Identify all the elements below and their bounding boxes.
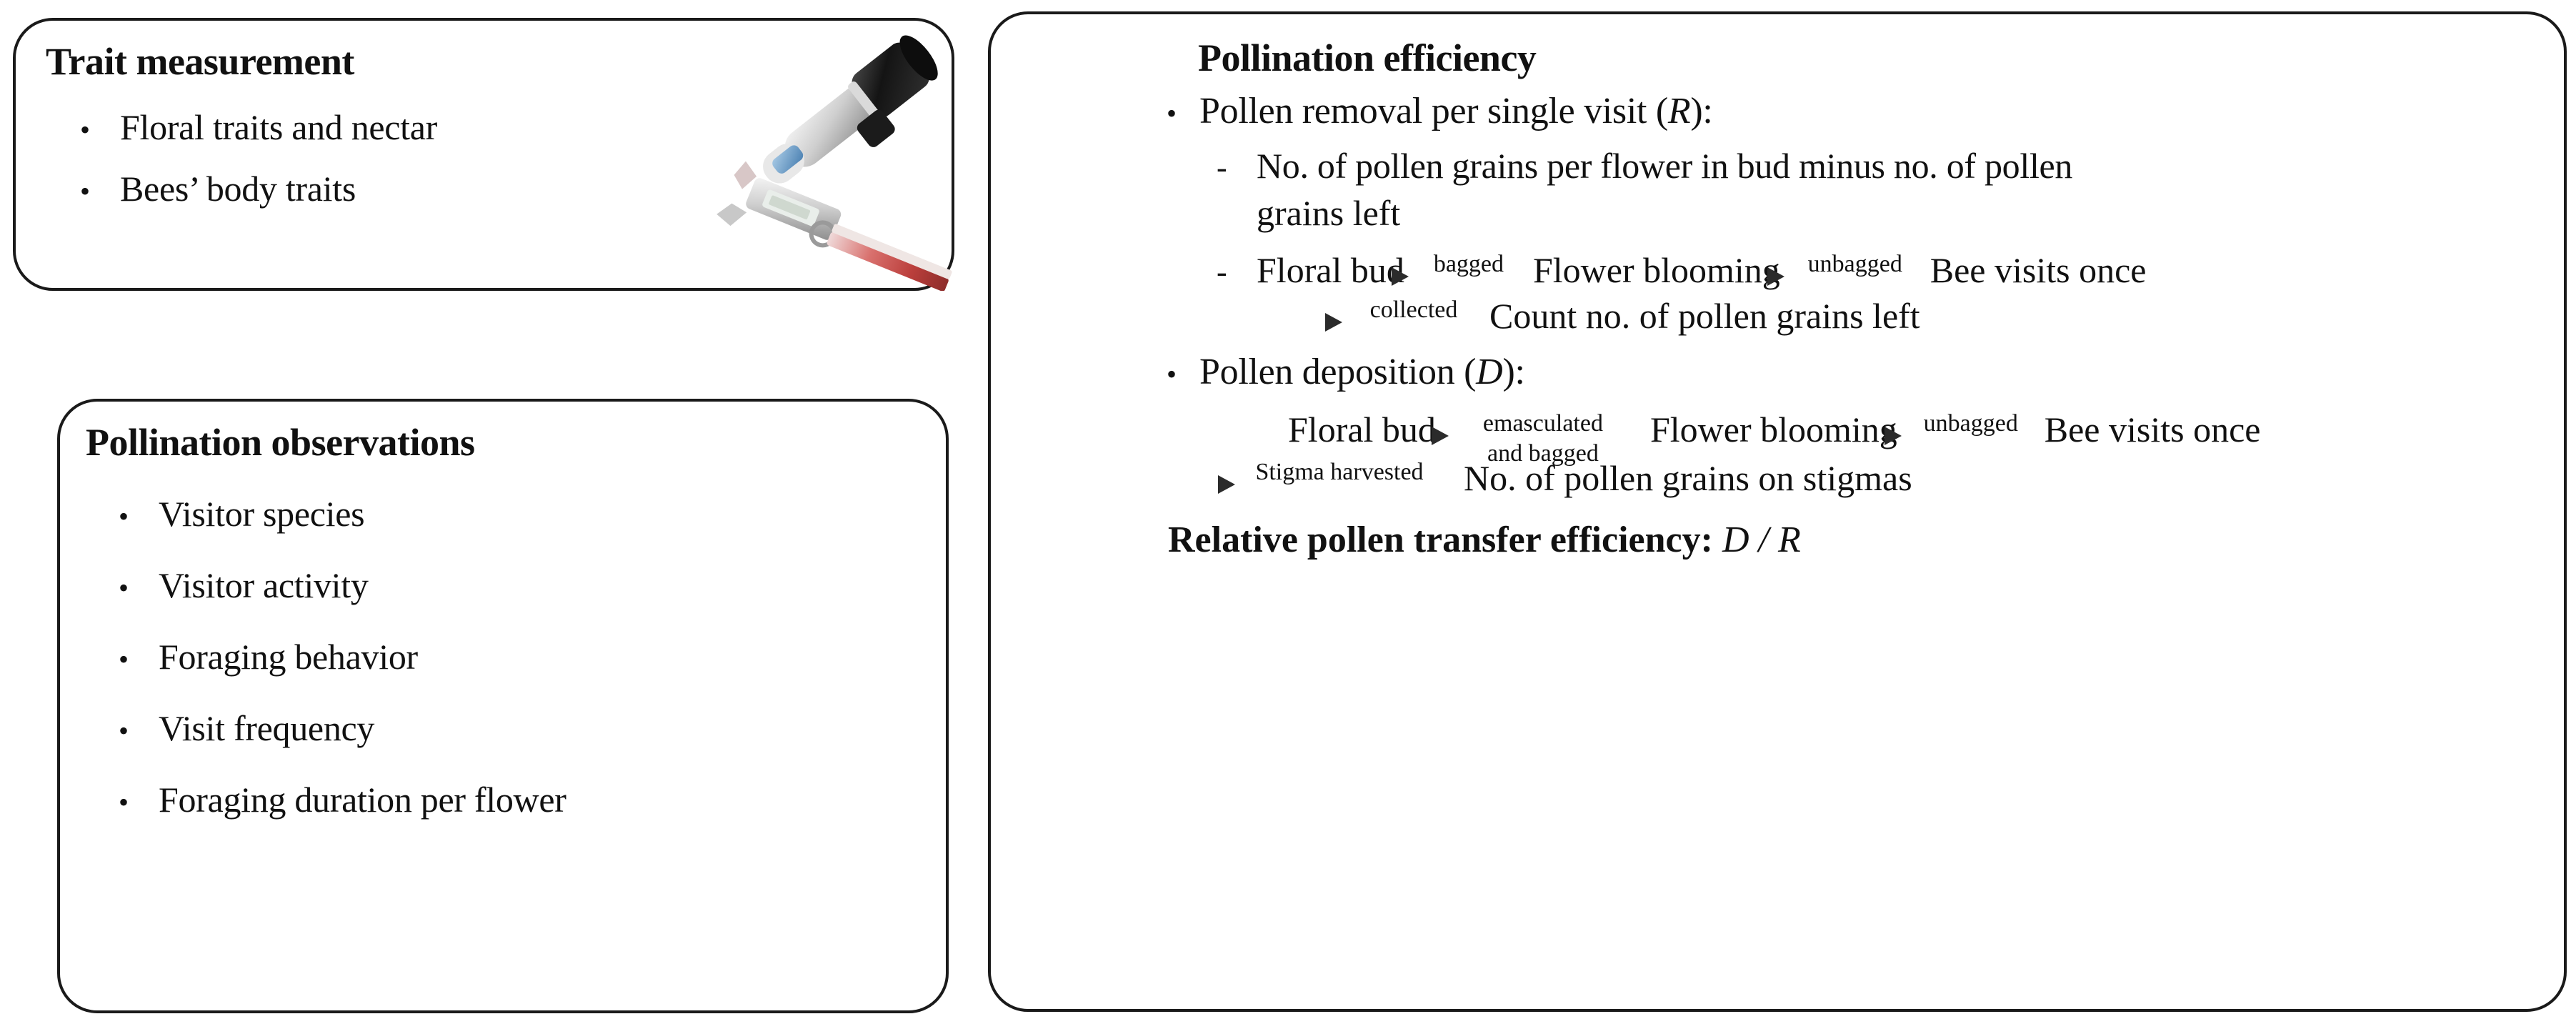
pollen-removal-flow-row-2-inner: collected Count no. of pollen grains lef… (1338, 295, 1920, 337)
flow-node-bee-visits-once: Bee visits once (2045, 409, 2261, 450)
list-item: • Visit frequency (119, 707, 566, 749)
arrow-label-unbagged: unbagged (1924, 410, 2018, 437)
arrow-label-unbagged: unbagged (1808, 251, 1902, 278)
pollen-deposition-label: Pollen deposition (D): (1199, 351, 1525, 393)
bullet-icon: • (119, 645, 159, 674)
pollen-deposition-label-start: Pollen deposition ( (1199, 352, 1476, 392)
pollen-removal-label-end: ): (1690, 91, 1712, 131)
bullet-icon: • (119, 574, 159, 602)
pollen-removal-sub-item-2: - Floral bud bagged Flower blooming unba… (1217, 249, 2564, 291)
list-item: • Foraging behavior (119, 636, 566, 677)
pollen-deposition-symbol: D (1476, 352, 1502, 392)
list-item-label: Foraging duration per flower (159, 779, 566, 820)
pollen-deposition-label-end: ): (1502, 352, 1524, 392)
pollen-deposition-flow-row-1: Floral bud emasculated and bagged Flower… (1288, 409, 2564, 450)
pollen-removal-flow-row-2: collected Count no. of pollen grains lef… (1338, 295, 2564, 337)
arrow-label-bagged: bagged (1434, 251, 1504, 278)
bullet-icon: • (1167, 99, 1199, 128)
pollen-removal-sub-1-line-2: grains left (1257, 192, 2564, 234)
list-item-label: Visitor activity (159, 565, 369, 606)
list-item-label: Visit frequency (159, 707, 374, 749)
pollen-removal-label-start: Pollen removal per single visit ( (1199, 91, 1668, 131)
pollen-removal-flow-row-1: Floral bud bagged Flower blooming unbagg… (1257, 249, 2146, 291)
list-item: • Bees’ body traits (80, 168, 437, 209)
bullet-icon: • (119, 502, 159, 531)
pollen-deposition-bullet: • Pollen deposition (D): (1167, 351, 2564, 393)
list-item: • Floral traits and nectar (80, 106, 437, 148)
relative-efficiency-ratio: D / R (1722, 520, 1801, 560)
pollen-deposition-flow-row-2: Stigma harvested No. of pollen grains on… (1231, 457, 2564, 499)
flow-node-flower-blooming: Flower blooming (1533, 249, 1780, 291)
list-item-label: Floral traits and nectar (120, 106, 437, 148)
relative-efficiency-label: Relative pollen transfer efficiency (1168, 520, 1701, 560)
pollen-removal-symbol: R (1668, 91, 1690, 131)
bullet-icon: • (119, 788, 159, 817)
pollen-removal-sub-1-line-1: No. of pollen grains per flower in bud m… (1257, 145, 2072, 187)
pollen-removal-sub-item-1: - No. of pollen grains per flower in bud… (1217, 145, 2564, 187)
pollination-observations-title: Pollination observations (86, 420, 475, 464)
flow-node-flower-blooming: Flower blooming (1650, 409, 1897, 450)
list-item: • Foraging duration per flower (119, 779, 566, 820)
flow-node-floral-bud: Floral bud (1288, 409, 1436, 450)
dash-icon: - (1217, 152, 1257, 184)
arrow-label-stigma-harvested: Stigma harvested (1255, 459, 1423, 486)
bullet-icon: • (80, 116, 120, 144)
relative-pollen-transfer-efficiency: Relative pollen transfer efficiency: D /… (1168, 519, 2564, 561)
pollination-efficiency-body: • Pollen removal per single visit (R): -… (991, 90, 2564, 561)
flow-node-floral-bud: Floral bud (1257, 249, 1404, 291)
bullet-icon: • (80, 177, 120, 206)
pollination-observations-list: • Visitor species • Visitor activity • F… (119, 493, 566, 850)
pollen-removal-bullet: • Pollen removal per single visit (R): (1167, 90, 2564, 132)
pollination-observations-box: Pollination observations • Visitor speci… (57, 399, 949, 1013)
flow-node-count-pollen-grains-left: Count no. of pollen grains left (1489, 295, 1920, 337)
arrow-label-and-bagged: and bagged (1487, 440, 1599, 467)
arrow-label-collected: collected (1370, 297, 1458, 324)
list-item-label: Foraging behavior (159, 636, 418, 677)
list-item: • Visitor species (119, 493, 566, 535)
list-item-label: Visitor species (159, 493, 364, 535)
arrow-label-emasculated: emasculated (1483, 410, 1603, 437)
trait-measurement-box: Trait measurement • Floral traits and ne… (13, 18, 954, 291)
refractometer-and-caliper-photo (706, 26, 963, 291)
pollination-efficiency-title: Pollination efficiency (1198, 36, 1536, 80)
pollen-removal-label: Pollen removal per single visit (R): (1199, 90, 1713, 132)
bullet-icon: • (119, 717, 159, 745)
list-item-label: Bees’ body traits (120, 168, 356, 209)
dash-icon: - (1217, 257, 1257, 288)
trait-measurement-list: • Floral traits and nectar • Bees’ body … (80, 106, 437, 229)
pollen-deposition-flow-row-1-inner: Floral bud emasculated and bagged Flower… (1288, 409, 2260, 450)
flow-node-bee-visits-once: Bee visits once (1930, 249, 2147, 291)
bullet-icon: • (1167, 360, 1199, 389)
list-item: • Visitor activity (119, 565, 566, 606)
trait-measurement-title: Trait measurement (46, 39, 354, 84)
pollination-efficiency-box: Pollination efficiency • Pollen removal … (988, 11, 2567, 1012)
relative-efficiency-colon: : (1701, 520, 1713, 560)
